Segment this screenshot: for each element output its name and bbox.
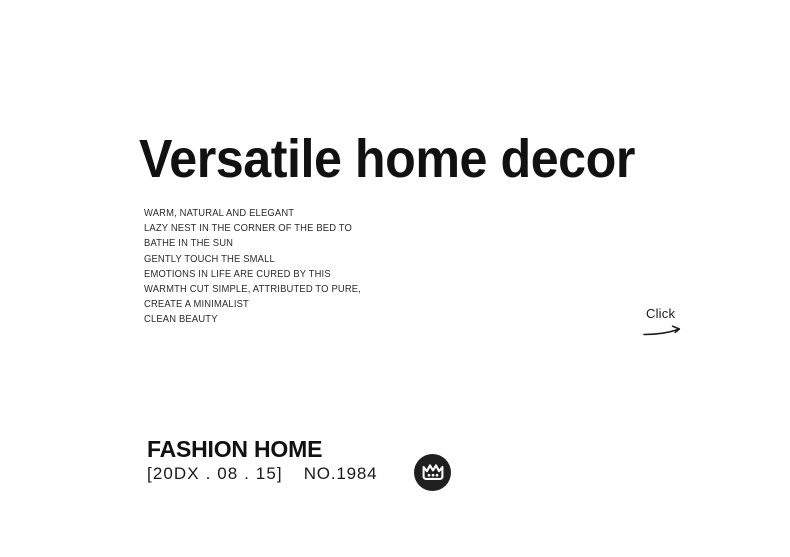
- body-line: EMOTIONS IN LIFE ARE CURED BY THIS: [144, 267, 464, 282]
- crown-badge-icon: [414, 454, 451, 491]
- arrow-right-icon: [643, 322, 685, 338]
- click-cta-button[interactable]: Click: [644, 306, 686, 338]
- click-cta-label: Click: [644, 306, 686, 322]
- body-line: BATHE IN THE SUN: [144, 236, 464, 251]
- body-line: CLEAN BEAUTY: [144, 312, 464, 327]
- issue-date: [20DX . 08 . 15]: [147, 463, 283, 485]
- issue-number: NO.1984: [304, 463, 378, 485]
- body-line: LAZY NEST IN THE CORNER OF THE BED TO: [144, 221, 464, 236]
- poster-canvas: Versatile home decor WARM, NATURAL AND E…: [0, 0, 790, 557]
- body-copy-block: WARM, NATURAL AND ELEGANT LAZY NEST IN T…: [144, 206, 474, 328]
- body-line: CREATE A MINIMALIST: [144, 297, 464, 312]
- body-line: WARM, NATURAL AND ELEGANT: [144, 206, 464, 221]
- crown-icon: [421, 463, 445, 482]
- body-line: WARMTH CUT SIMPLE, ATTRIBUTED TO PURE,: [144, 282, 464, 297]
- page-title: Versatile home decor: [139, 130, 635, 188]
- body-line: GENTLY TOUCH THE SMALL: [144, 252, 464, 267]
